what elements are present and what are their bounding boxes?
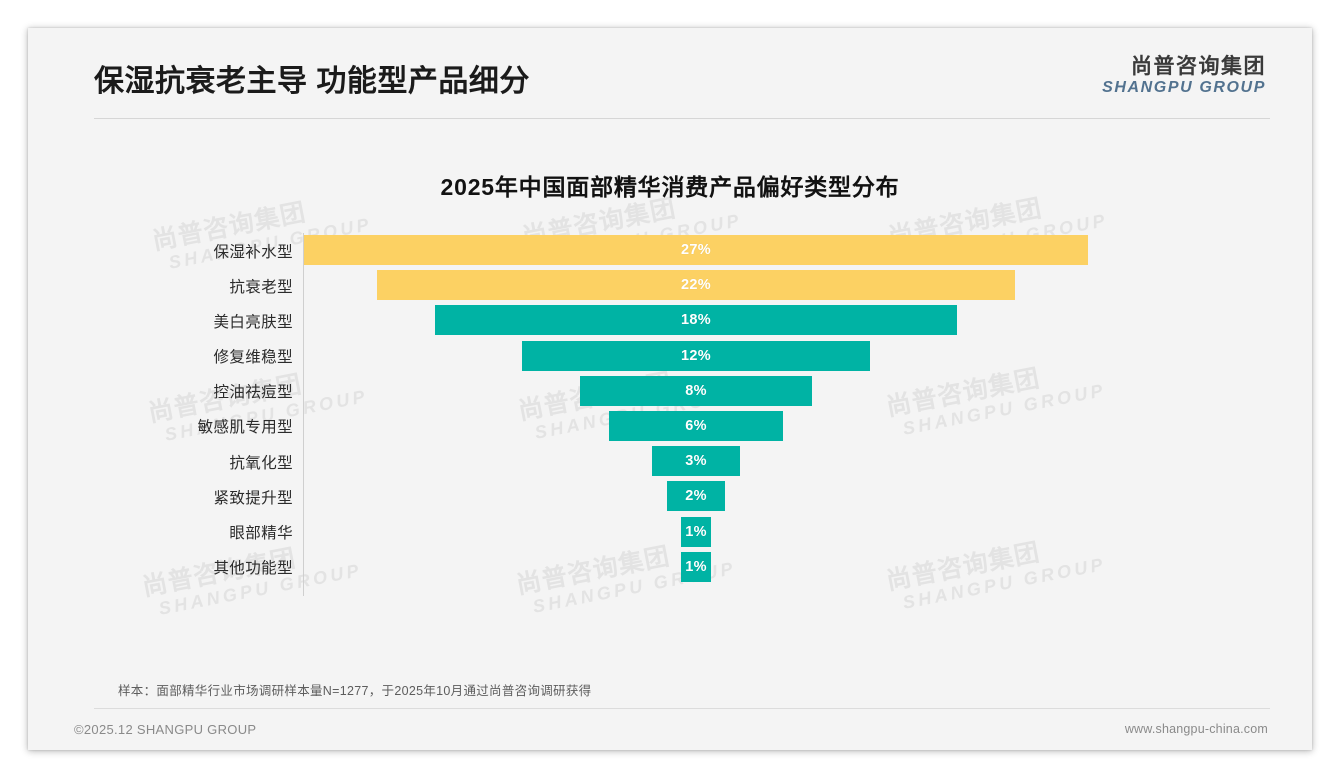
category-label: 控油祛痘型	[28, 380, 293, 402]
bar-track: 18%	[304, 303, 1312, 338]
funnel-bar[interactable]: 1%	[681, 517, 710, 547]
bar-value-label: 12%	[681, 348, 711, 364]
chart-row: 修复维稳型12%	[28, 339, 1312, 374]
chart-section: 2025年中国面部精华消费产品偏好类型分布 保湿补水型27%抗衰老型22%美白亮…	[28, 128, 1312, 608]
copyright-text: ©2025.12 SHANGPU GROUP	[74, 722, 256, 737]
chart-row: 敏感肌专用型6%	[28, 409, 1312, 444]
category-label: 保湿补水型	[28, 240, 293, 262]
bar-value-label: 18%	[681, 312, 711, 328]
bar-track: 3%	[304, 444, 1312, 479]
bar-track: 1%	[304, 515, 1312, 550]
category-label: 紧致提升型	[28, 486, 293, 508]
bar-value-label: 27%	[681, 242, 711, 258]
slide-footer: ©2025.12 SHANGPU GROUP www.shangpu-china…	[28, 709, 1312, 750]
category-label: 抗衰老型	[28, 275, 293, 297]
chart-row: 美白亮肤型18%	[28, 303, 1312, 338]
category-label: 美白亮肤型	[28, 310, 293, 332]
chart-row: 控油祛痘型8%	[28, 374, 1312, 409]
header-divider	[94, 118, 1270, 119]
category-label: 其他功能型	[28, 556, 293, 578]
funnel-bar[interactable]: 2%	[667, 481, 725, 511]
bar-track: 27%	[304, 233, 1312, 268]
bar-value-label: 8%	[685, 383, 707, 399]
bar-track: 6%	[304, 409, 1312, 444]
bar-track: 22%	[304, 268, 1312, 303]
category-label: 修复维稳型	[28, 345, 293, 367]
bar-value-label: 22%	[681, 277, 711, 293]
bar-value-label: 6%	[685, 418, 707, 434]
funnel-bar[interactable]: 1%	[681, 552, 710, 582]
chart-row: 其他功能型1%	[28, 550, 1312, 585]
page-title: 保湿抗衰老主导 功能型产品细分	[94, 56, 530, 100]
funnel-bar[interactable]: 18%	[435, 305, 958, 335]
bar-value-label: 3%	[685, 453, 707, 469]
funnel-bar[interactable]: 12%	[522, 341, 870, 371]
brand-logo: 尚普咨询集团 SHANGPU GROUP	[1102, 55, 1266, 96]
funnel-bar[interactable]: 22%	[377, 270, 1016, 300]
funnel-bar[interactable]: 27%	[304, 235, 1088, 265]
slide-header: 保湿抗衰老主导 功能型产品细分 尚普咨询集团 SHANGPU GROUP	[28, 28, 1312, 119]
category-label: 抗氧化型	[28, 451, 293, 473]
chart-title: 2025年中国面部精华消费产品偏好类型分布	[28, 168, 1312, 202]
chart-row: 紧致提升型2%	[28, 479, 1312, 514]
sample-footnote: 样本：面部精华行业市场调研样本量N=1277，于2025年10月通过尚普咨询调研…	[118, 680, 591, 699]
funnel-chart: 保湿补水型27%抗衰老型22%美白亮肤型18%修复维稳型12%控油祛痘型8%敏感…	[28, 233, 1312, 608]
chart-row: 抗衰老型22%	[28, 268, 1312, 303]
chart-row: 保湿补水型27%	[28, 233, 1312, 268]
bar-track: 2%	[304, 479, 1312, 514]
funnel-bar[interactable]: 8%	[580, 376, 812, 406]
bar-value-label: 1%	[685, 559, 707, 575]
chart-row: 眼部精华1%	[28, 515, 1312, 550]
bar-track: 12%	[304, 339, 1312, 374]
category-label: 眼部精华	[28, 521, 293, 543]
slide-panel: 尚普咨询集团 SHANGPU GROUP 尚普咨询集团 SHANGPU GROU…	[28, 28, 1312, 750]
funnel-bar[interactable]: 6%	[609, 411, 783, 441]
category-label: 敏感肌专用型	[28, 415, 293, 437]
bar-value-label: 1%	[685, 524, 707, 540]
site-url[interactable]: www.shangpu-china.com	[1125, 722, 1268, 736]
funnel-bar[interactable]: 3%	[652, 446, 739, 476]
bar-track: 8%	[304, 374, 1312, 409]
brand-name-cn: 尚普咨询集团	[1102, 55, 1266, 79]
chart-row: 抗氧化型3%	[28, 444, 1312, 479]
bar-value-label: 2%	[685, 488, 707, 504]
bar-track: 1%	[304, 550, 1312, 585]
brand-name-en: SHANGPU GROUP	[1102, 79, 1266, 97]
chart-rows: 保湿补水型27%抗衰老型22%美白亮肤型18%修复维稳型12%控油祛痘型8%敏感…	[28, 233, 1312, 585]
